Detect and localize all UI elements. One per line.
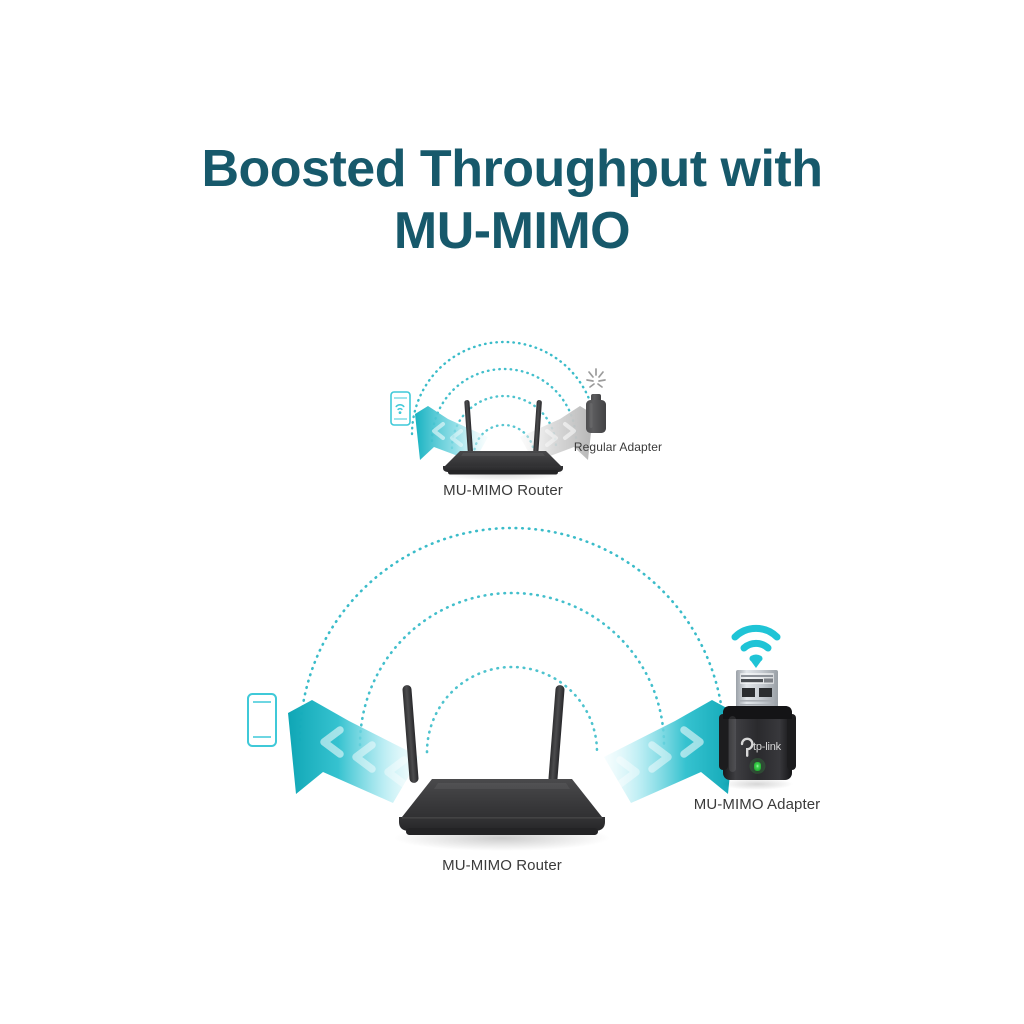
- mu-mimo-adapter-label: MU-MIMO Adapter: [657, 796, 857, 813]
- infographic-canvas: Boosted Throughput with MU-MIMO: [0, 0, 1024, 1024]
- regular-adapter-group: [586, 369, 606, 433]
- svg-text:tp-link: tp-link: [753, 741, 782, 753]
- adapter-wifi-signal-icon: [735, 628, 777, 658]
- title-line-2: MU-MIMO: [0, 200, 1024, 262]
- top-router-label: MU-MIMO Router: [403, 482, 603, 499]
- bottom-router-device: [399, 685, 605, 835]
- top-diagram-group: [391, 342, 606, 481]
- top-left-signal-arrow: [415, 406, 488, 462]
- top-router-device: [443, 400, 563, 475]
- regular-usb-dongle-icon: [586, 394, 606, 433]
- bottom-left-signal-arrow: [288, 700, 420, 803]
- tp-link-logo: tp-link: [742, 739, 782, 756]
- adapter-body: tp-link: [719, 706, 796, 780]
- top-router-shadow: [441, 465, 565, 481]
- adapter-shadow: [721, 778, 793, 790]
- adapter-wifi-tip-icon: [750, 659, 763, 668]
- mu-mimo-adapter-device: tp-link: [719, 628, 796, 790]
- bottom-router-label: MU-MIMO Router: [402, 857, 602, 874]
- bottom-signal-arcs: [300, 528, 724, 752]
- page-title: Boosted Throughput with MU-MIMO: [0, 138, 1024, 262]
- adapter-status-led: [754, 762, 761, 771]
- bottom-client-smartphone-icon: [248, 694, 276, 746]
- spark-burst-icon: [587, 369, 605, 387]
- top-client-phone-wifi-icon: [391, 392, 410, 425]
- bottom-right-signal-arrow: [604, 700, 736, 803]
- bottom-router-shadow: [394, 825, 610, 851]
- top-signal-arcs: [412, 342, 596, 455]
- adapter-usb-connector: [736, 670, 778, 712]
- regular-adapter-label: Regular Adapter: [538, 440, 698, 454]
- title-line-1: Boosted Throughput with: [0, 138, 1024, 200]
